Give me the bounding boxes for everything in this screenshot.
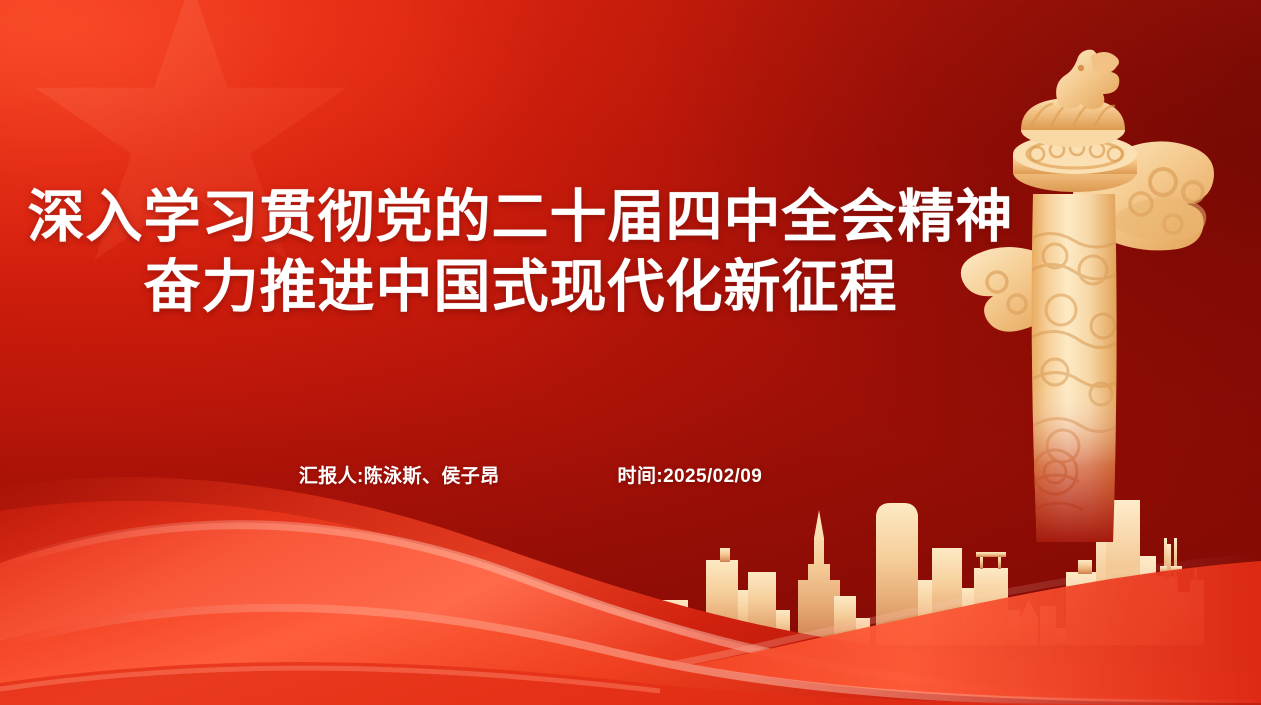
slide-meta-row: 汇报人:陈泳斯、侯子昂 时间:2025/02/09 — [0, 461, 1061, 488]
slide-title: 深入学习贯彻党的二十届四中全会精神 奋力推进中国式现代化新征程 — [0, 183, 1045, 323]
presentation-cover-slide: 深入学习贯彻党的二十届四中全会精神 奋力推进中国式现代化新征程 汇报人:陈泳斯、… — [0, 0, 1261, 705]
title-line-1: 深入学习贯彻党的二十届四中全会精神 — [0, 183, 1045, 253]
date-label: 时间:2025/02/09 — [618, 461, 763, 488]
background-vignette — [0, 0, 1261, 705]
title-line-2: 奋力推进中国式现代化新征程 — [0, 253, 1045, 323]
presenter-label: 汇报人:陈泳斯、侯子昂 — [299, 461, 500, 488]
